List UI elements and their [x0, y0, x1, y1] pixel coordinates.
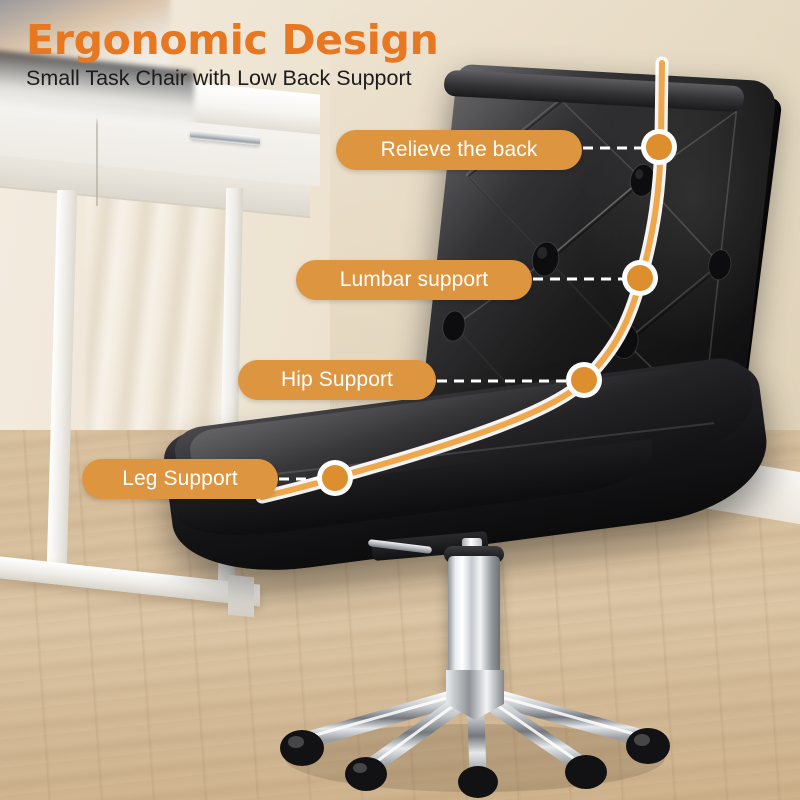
callout-pill-lumbar-support[interactable]: Lumbar support: [296, 260, 532, 300]
page-title: Ergonomic Design: [26, 16, 439, 64]
node-dot-relieve-the-back[interactable]: [646, 134, 672, 160]
node-dot-hip-support[interactable]: [571, 367, 597, 393]
annotation-overlay: [0, 0, 800, 800]
callout-pill-leg-support[interactable]: Leg Support: [82, 459, 278, 499]
product-infographic: Ergonomic Design Small Task Chair with L…: [0, 0, 800, 800]
callout-pill-hip-support[interactable]: Hip Support: [238, 360, 436, 400]
callout-label-lumbar-support: Lumbar support: [340, 268, 488, 292]
callout-label-relieve-the-back: Relieve the back: [381, 138, 538, 162]
connector-lines: [245, 148, 645, 479]
callout-label-hip-support: Hip Support: [281, 368, 393, 392]
page-subtitle: Small Task Chair with Low Back Support: [26, 66, 412, 91]
callout-pill-relieve-the-back[interactable]: Relieve the back: [336, 130, 582, 170]
callout-label-leg-support: Leg Support: [122, 467, 238, 491]
node-dot-lumbar-support[interactable]: [627, 265, 653, 291]
node-dot-leg-support[interactable]: [322, 465, 348, 491]
